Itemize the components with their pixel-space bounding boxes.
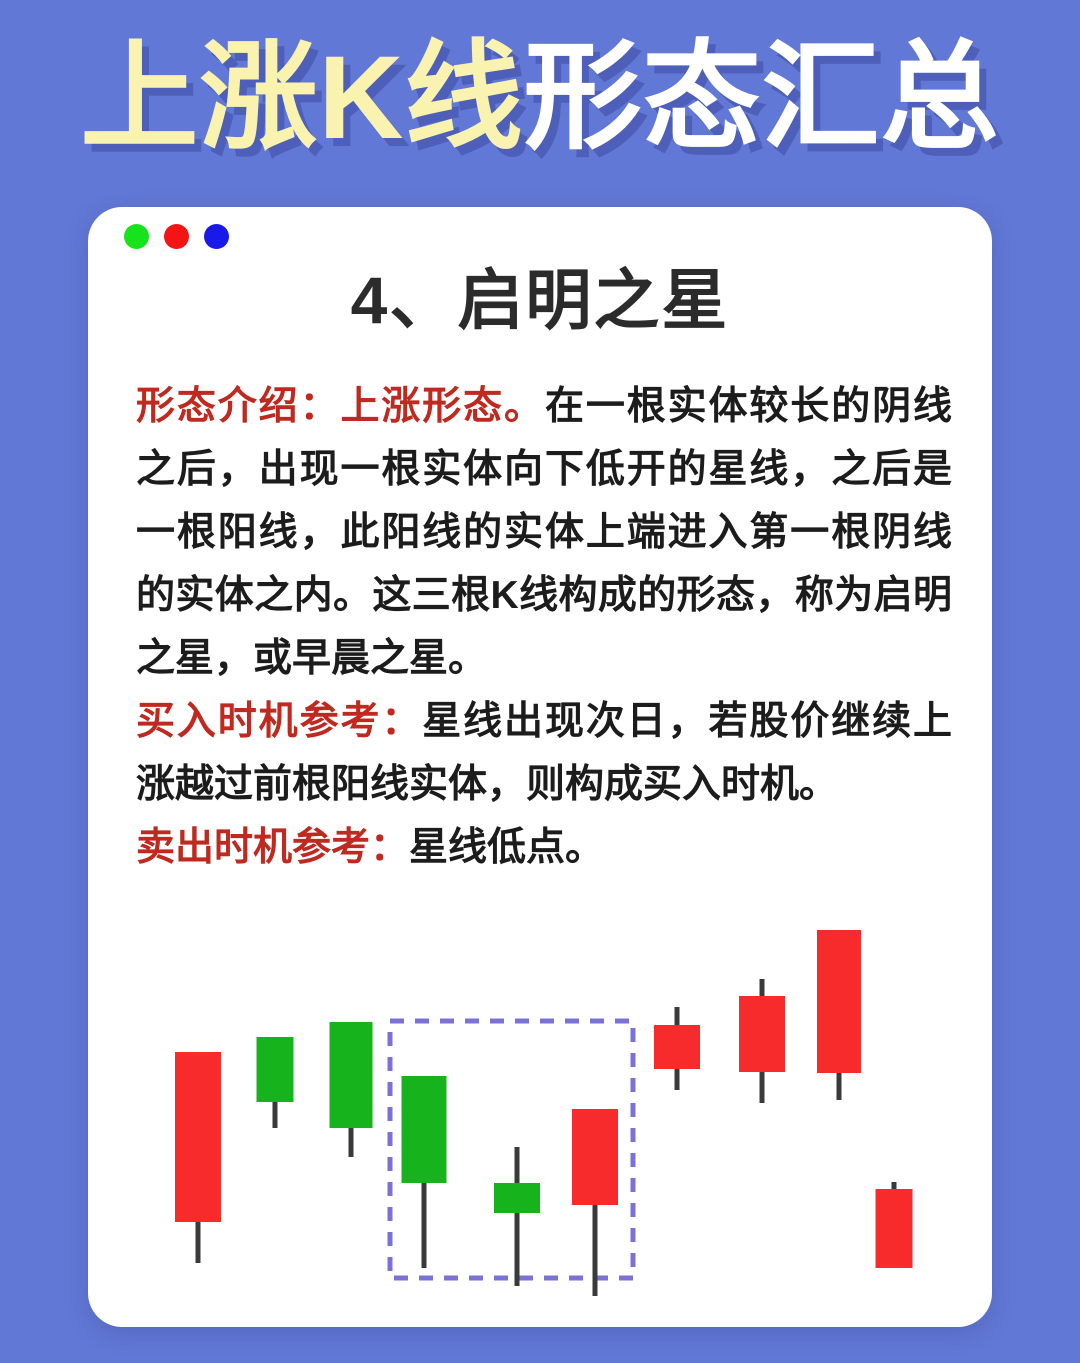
candle-9 — [817, 930, 861, 1100]
section-sell-text: 星线低点。 — [409, 826, 604, 869]
candle-body — [654, 1025, 700, 1069]
window-dot-green-icon[interactable] — [124, 224, 149, 249]
candle-3 — [330, 1022, 373, 1157]
section-sell-label: 卖出时机参考： — [136, 826, 409, 869]
candle-body — [739, 996, 785, 1072]
candle-8 — [739, 979, 785, 1103]
candle-body — [257, 1037, 294, 1102]
section-sell: 卖出时机参考：星线低点。 — [136, 816, 952, 879]
section-intro-text: 在一根实体较长的阴线之后，出现一根实体向下低开的星线，之后是一根阳线，此阳线的实… — [136, 385, 952, 680]
candle-7 — [654, 1007, 700, 1090]
candle-body — [876, 1189, 913, 1268]
candle-10 — [876, 1182, 913, 1268]
candle-body — [817, 930, 861, 1073]
section-intro-label: 形态介绍：上涨形态。 — [136, 385, 545, 428]
content-card: 4、启明之星 形态介绍：上涨形态。在一根实体较长的阴线之后，出现一根实体向下低开… — [88, 207, 992, 1327]
candle-body — [330, 1022, 373, 1128]
candle-body — [402, 1076, 447, 1183]
candle-5 — [494, 1147, 540, 1286]
section-buy: 买入时机参考：星线出现次日，若股价继续上涨越过前根阳线实体，则构成买入时机。 — [136, 690, 952, 816]
candle-6 — [572, 1109, 618, 1296]
window-dot-red-icon[interactable] — [164, 224, 189, 249]
candle-4 — [402, 1076, 447, 1268]
section-intro: 形态介绍：上涨形态。在一根实体较长的阴线之后，出现一根实体向下低开的星线，之后是… — [136, 375, 952, 690]
candle-2 — [257, 1037, 294, 1128]
window-dot-blue-icon[interactable] — [204, 224, 229, 249]
pattern-highlight-box — [390, 1021, 633, 1278]
article-body: 形态介绍：上涨形态。在一根实体较长的阴线之后，出现一根实体向下低开的星线，之后是… — [136, 375, 952, 879]
section-buy-label: 买入时机参考： — [136, 700, 422, 743]
candle-body — [175, 1052, 221, 1222]
candle-body — [572, 1109, 618, 1205]
candle-body — [494, 1183, 540, 1213]
page-title-segment-yellow: 上涨K线 — [80, 32, 523, 164]
card-heading: 4、启明之星 — [88, 264, 992, 337]
page-title-segment-white: 形态汇总 — [524, 32, 1000, 164]
window-dots — [124, 224, 229, 249]
candle-1 — [175, 1052, 221, 1263]
page-title: 上涨K线形态汇总 — [80, 39, 999, 157]
banner-title-bar: 上涨K线形态汇总 — [0, 0, 1080, 196]
